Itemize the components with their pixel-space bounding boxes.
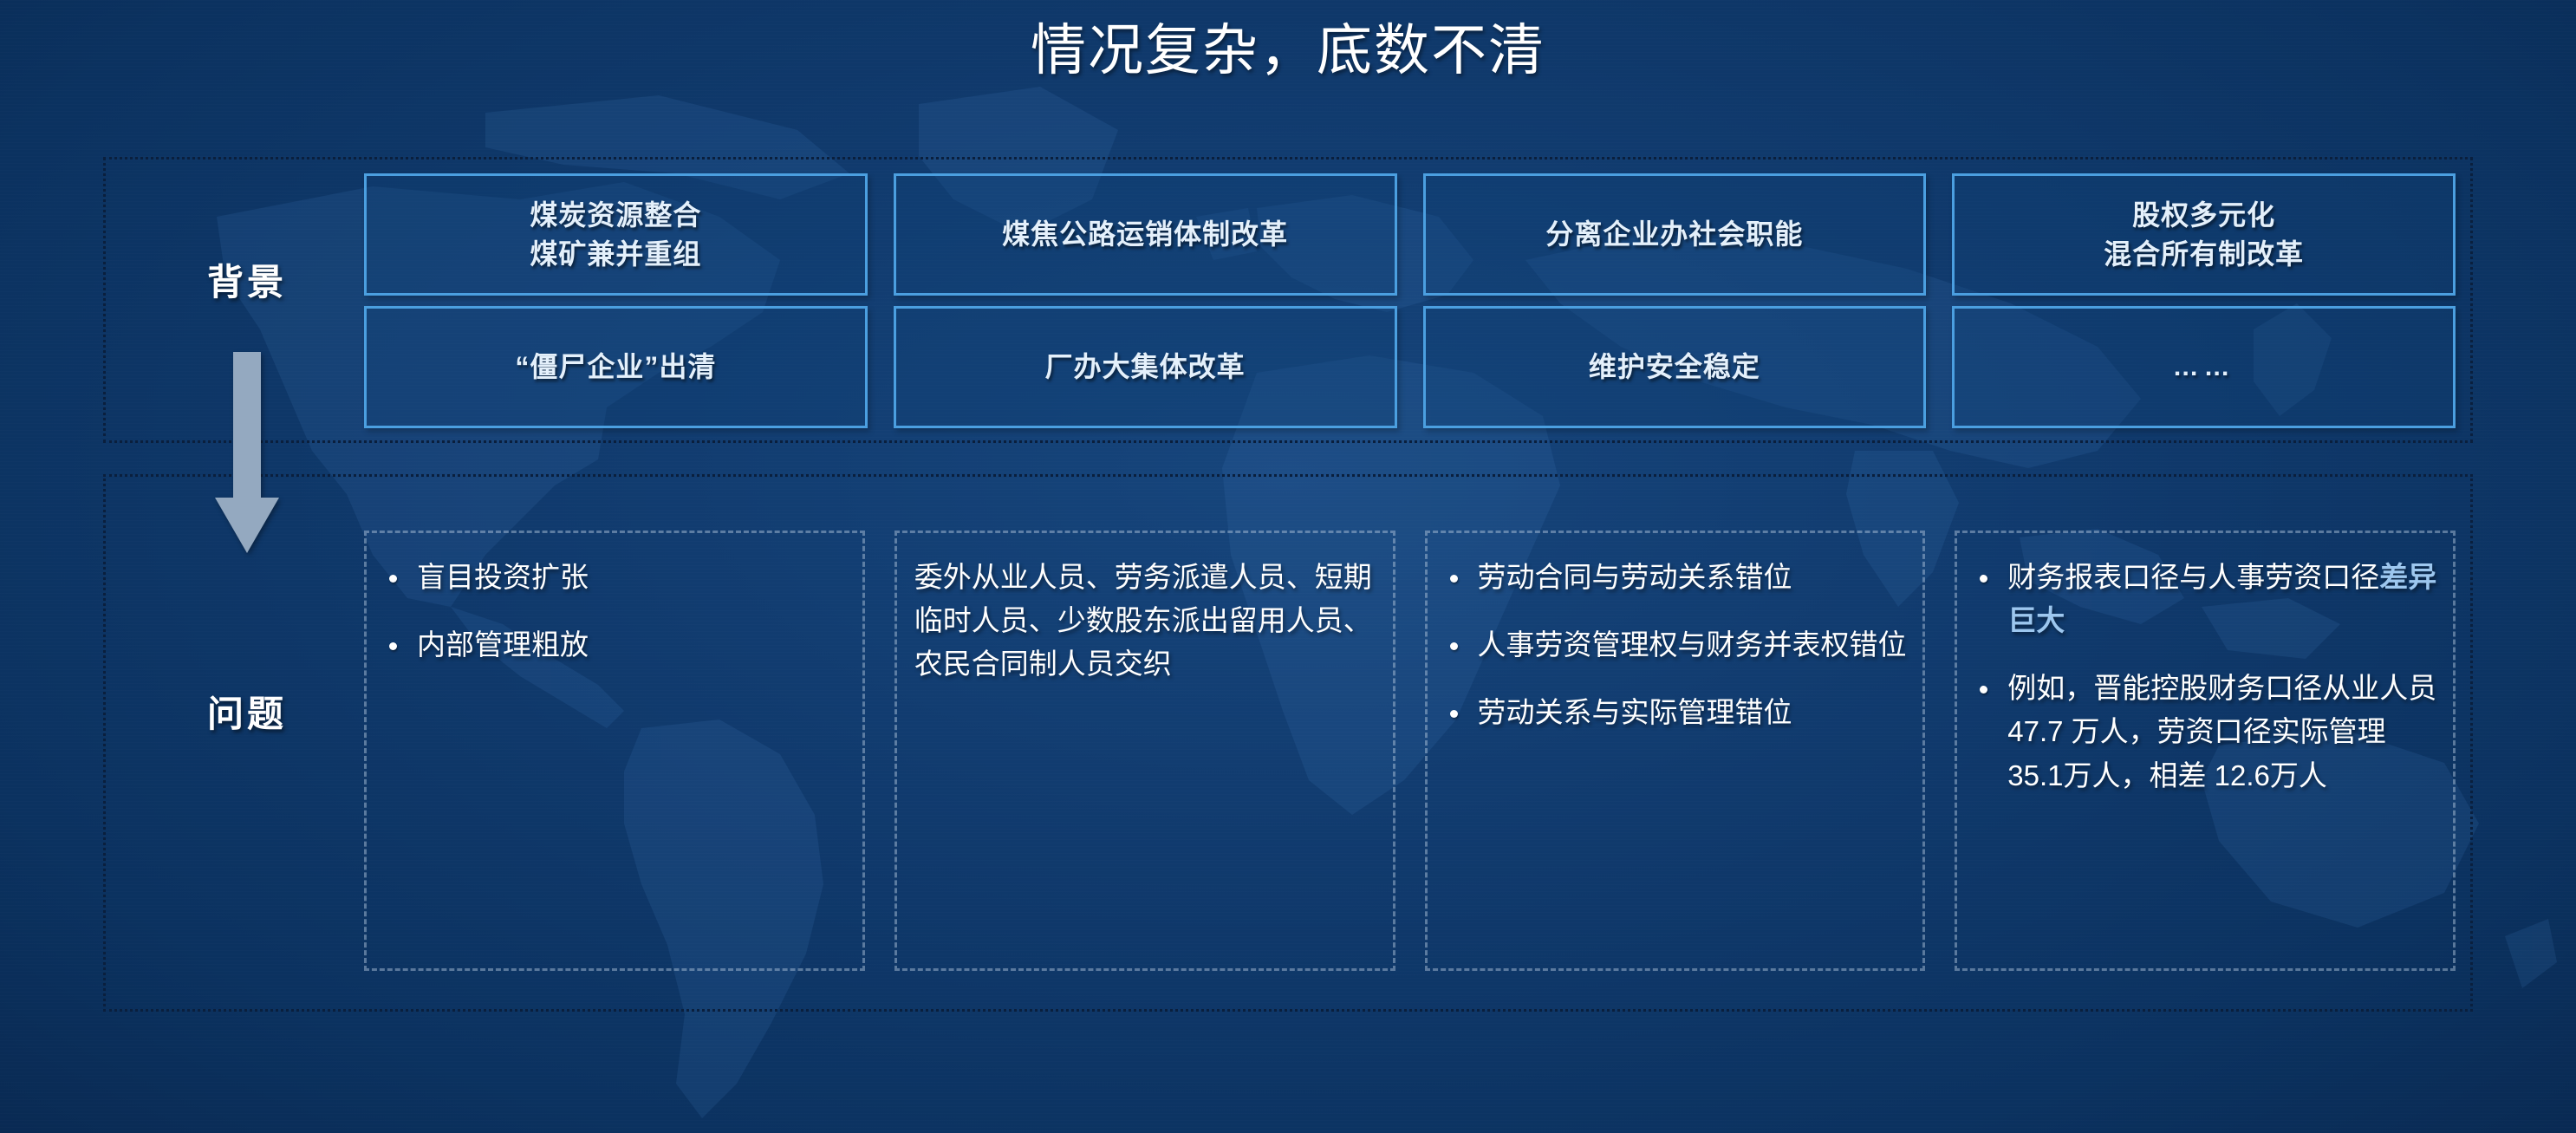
problem-column-grid: 盲目投资扩张 内部管理粗放 委外从业人员、劳务派遣人员、短期临时人员、少数股东派… bbox=[364, 531, 2456, 971]
list-item: 例如，晋能控股财务口径从业人员 47.7 万人，劳资口径实际管理 35.1万人，… bbox=[1969, 667, 2437, 797]
list-item-text: 财务报表口径与人事劳资口径 bbox=[2007, 561, 2379, 593]
background-box-coal-coke-transport-reform[interactable]: 煤焦公路运销体制改革 bbox=[894, 173, 1397, 296]
background-box-equity-diversification[interactable]: 股权多元化 混合所有制改革 bbox=[1952, 173, 2456, 296]
background-box-separate-social-functions[interactable]: 分离企业办社会职能 bbox=[1423, 173, 1927, 296]
problem-column-4: 财务报表口径与人事劳资口径差异巨大 例如，晋能控股财务口径从业人员 47.7 万… bbox=[1955, 531, 2456, 971]
background-section-label: 背景 bbox=[147, 253, 347, 306]
down-arrow-icon bbox=[215, 352, 279, 553]
list-item: 内部管理粗放 bbox=[379, 623, 847, 667]
problem-list-3: 劳动合同与劳动关系错位 人事劳资管理权与财务并表权错位 劳动关系与实际管理错位 bbox=[1440, 556, 1908, 734]
problem-column-3: 劳动合同与劳动关系错位 人事劳资管理权与财务并表权错位 劳动关系与实际管理错位 bbox=[1425, 531, 1926, 971]
background-box-ellipsis[interactable]: …… bbox=[1952, 306, 2456, 428]
problem-section-label: 问题 bbox=[147, 685, 347, 738]
background-box-factory-collective-reform[interactable]: 厂办大集体改革 bbox=[894, 306, 1397, 428]
problem-column-1: 盲目投资扩张 内部管理粗放 bbox=[364, 531, 865, 971]
problem-list-1: 盲目投资扩张 内部管理粗放 bbox=[379, 556, 847, 667]
page-title: 情况复杂，底数不清 bbox=[0, 16, 2576, 85]
background-box-coal-resource-integration[interactable]: 煤炭资源整合 煤矿兼并重组 bbox=[364, 173, 868, 296]
slide-canvas: 情况复杂，底数不清 背景 煤炭资源整合 煤矿兼并重组 煤焦公路运销体制改革 分离… bbox=[0, 0, 2576, 1133]
problem-paragraph-2: 委外从业人员、劳务派遣人员、短期临时人员、少数股东派出留用人员、农民合同制人员交… bbox=[909, 556, 1377, 686]
list-item: 劳动合同与劳动关系错位 bbox=[1440, 556, 1908, 599]
list-item: 人事劳资管理权与财务并表权错位 bbox=[1440, 623, 1908, 667]
problem-column-2: 委外从业人员、劳务派遣人员、短期临时人员、少数股东派出留用人员、农民合同制人员交… bbox=[894, 531, 1395, 971]
background-box-grid: 煤炭资源整合 煤矿兼并重组 煤焦公路运销体制改革 分离企业办社会职能 股权多元化… bbox=[364, 173, 2456, 428]
background-box-maintain-safety-stability[interactable]: 维护安全稳定 bbox=[1423, 306, 1927, 428]
list-item: 劳动关系与实际管理错位 bbox=[1440, 691, 1908, 734]
list-item: 盲目投资扩张 bbox=[379, 556, 847, 599]
problem-list-4: 财务报表口径与人事劳资口径差异巨大 例如，晋能控股财务口径从业人员 47.7 万… bbox=[1969, 556, 2437, 798]
list-item: 财务报表口径与人事劳资口径差异巨大 bbox=[1969, 556, 2437, 642]
background-box-zombie-enterprise-clearing[interactable]: “僵尸企业”出清 bbox=[364, 306, 868, 428]
